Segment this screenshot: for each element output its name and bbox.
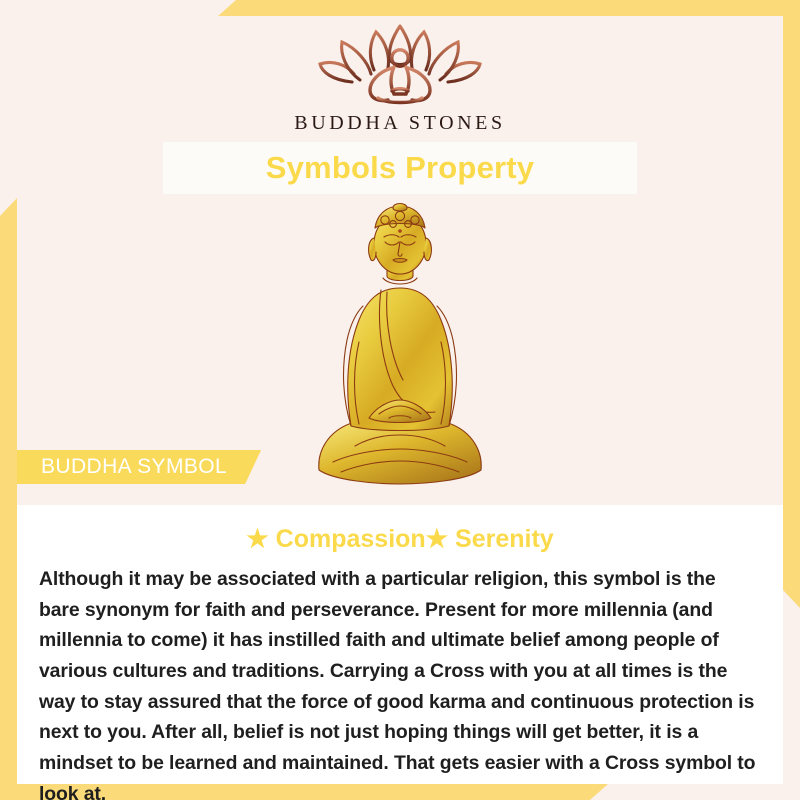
brand-wordmark: BUDDHA STONES bbox=[294, 112, 505, 135]
content-subtitle: ★ Compassion★ Serenity bbox=[31, 524, 769, 554]
content-paragraph: Although it may be associated with a par… bbox=[31, 564, 769, 800]
lotus-meditation-icon bbox=[316, 22, 484, 108]
brand-logo: BUDDHA STONES bbox=[0, 22, 800, 135]
poster-root: BUDDHA STONES Symbols Property bbox=[0, 0, 800, 800]
symbol-tag-label: BUDDHA SYMBOL bbox=[41, 455, 227, 479]
decor-bar-top bbox=[218, 0, 800, 16]
page-title: Symbols Property bbox=[266, 150, 535, 186]
decor-bar-left bbox=[0, 198, 17, 800]
status-badge: BUDDHA SYMBOL bbox=[17, 450, 261, 484]
content-panel: ★ Compassion★ Serenity Although it may b… bbox=[17, 505, 783, 784]
golden-buddha-statue-icon bbox=[307, 200, 493, 492]
title-banner: Symbols Property bbox=[163, 142, 637, 194]
